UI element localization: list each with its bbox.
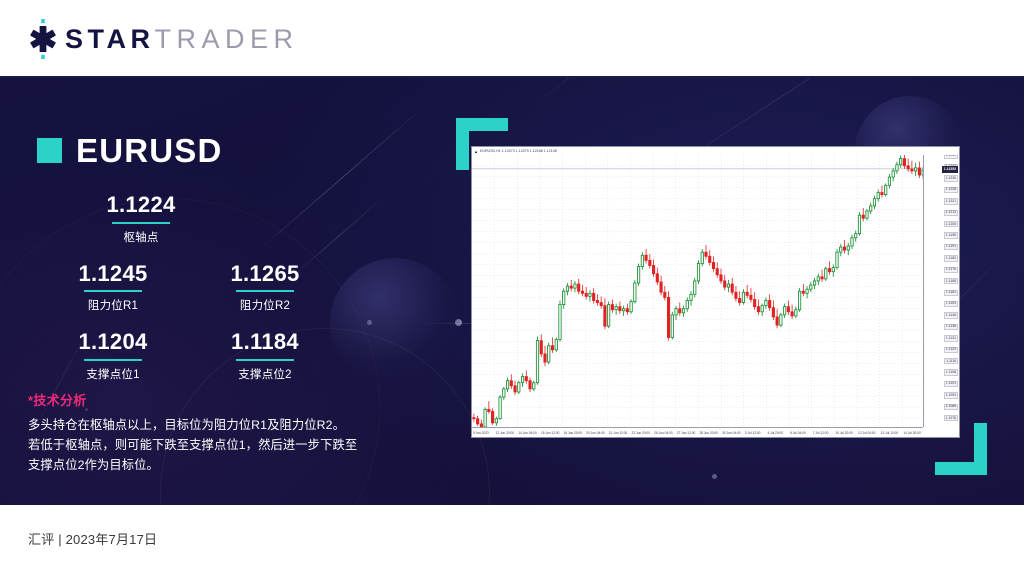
footer-bar: 汇评 | 2023年7月17日 bbox=[0, 505, 1024, 576]
time-tick: 9 Jun 2023 bbox=[473, 432, 489, 435]
level-underline bbox=[236, 359, 294, 361]
time-tick: 30 Jun 04:00 bbox=[722, 432, 740, 435]
instrument-header: EURUSD bbox=[37, 134, 223, 167]
time-tick: 14 Jun 04:00 bbox=[518, 432, 536, 435]
pivot-row-support: 1.1204 支撑点位1 1.1184 支撑点位2 bbox=[37, 330, 367, 399]
time-tick: 4 Jul 20:00 bbox=[767, 432, 783, 435]
level-underline bbox=[112, 222, 170, 224]
brand-name-light: TRADER bbox=[155, 26, 299, 53]
price-tick: 1.1071 bbox=[944, 427, 958, 428]
brand-name-bold: STAR bbox=[65, 26, 155, 53]
time-tick: 7 Jul 12:00 bbox=[813, 432, 829, 435]
chart-time-axis[interactable]: 9 Jun 202312 Jun 20:0014 Jun 04:0015 Jun… bbox=[472, 427, 923, 437]
price-tick: 1.1116 bbox=[944, 358, 958, 364]
asterisk-logo-icon bbox=[26, 19, 60, 59]
pivot-levels: 1.1224 枢轴点 1.1245 阻力位R1 1.1265 阻力位R2 bbox=[37, 193, 367, 399]
price-tick: 1.1086 bbox=[944, 404, 958, 410]
level-value: 1.1204 bbox=[37, 330, 189, 355]
level-label: 支撑点位1 bbox=[37, 366, 189, 382]
level-underline bbox=[84, 359, 142, 361]
level-support-2: 1.1184 支撑点位2 bbox=[189, 330, 341, 382]
price-chart[interactable]: ▲ EURUSD,H1 1.12073 1.12079 1.12188 1.12… bbox=[471, 146, 960, 438]
chart-title-text: EURUSD,H1 1.12073 1.12079 1.12188 1.1213… bbox=[480, 149, 557, 153]
price-tick: 1.1123 bbox=[944, 347, 958, 353]
instrument-symbol: EURUSD bbox=[76, 134, 223, 167]
footer-caption: 汇评 | 2023年7月17日 bbox=[28, 529, 157, 548]
level-label: 阻力位R2 bbox=[189, 297, 341, 313]
chart-plot-area[interactable] bbox=[472, 155, 923, 427]
level-underline bbox=[84, 290, 142, 292]
time-tick: 3 Jul 12:00 bbox=[745, 432, 761, 435]
price-tick: 1.1191 bbox=[944, 244, 958, 250]
level-label: 枢轴点 bbox=[65, 229, 217, 245]
instrument-marker-square bbox=[37, 138, 62, 163]
level-value: 1.1224 bbox=[65, 193, 217, 218]
time-tick: 12 Jul 04:00 bbox=[858, 432, 875, 435]
poster-root: STAR TRADER EURUSD bbox=[0, 0, 1024, 576]
time-tick: 6 Jul 04:00 bbox=[790, 432, 806, 435]
chart-title: ▲ EURUSD,H1 1.12073 1.12079 1.12188 1.12… bbox=[472, 147, 959, 155]
price-tick: 1.1101 bbox=[944, 381, 958, 387]
time-tick: 21 Jun 12:00 bbox=[609, 432, 627, 435]
current-price-tag: 1.12253 bbox=[942, 166, 958, 172]
time-tick: 28 Jun 20:00 bbox=[700, 432, 718, 435]
level-resistance-1: 1.1245 阻力位R1 bbox=[37, 262, 189, 314]
level-underline bbox=[236, 290, 294, 292]
header-bar: STAR TRADER bbox=[0, 0, 1024, 78]
price-tick: 1.1131 bbox=[944, 335, 958, 341]
time-tick: 22 Jun 20:00 bbox=[632, 432, 650, 435]
price-tick: 1.1153 bbox=[944, 301, 958, 307]
analysis-line: 多头持仓在枢轴点以上，目标位为阻力位R1及阻力位R2。 bbox=[28, 416, 428, 436]
level-label: 阻力位R1 bbox=[37, 297, 189, 313]
brand-logo[interactable]: STAR TRADER bbox=[26, 19, 299, 59]
main-canvas: EURUSD 1.1224 枢轴点 1.1245 阻力位R1 bbox=[0, 78, 1024, 505]
level-resistance-2: 1.1265 阻力位R2 bbox=[189, 262, 341, 314]
time-tick: 15 Jun 12:00 bbox=[541, 432, 559, 435]
analysis-line: 支撑点位2作为目标位。 bbox=[28, 456, 428, 476]
price-tick: 1.1236 bbox=[944, 175, 958, 181]
price-tick: 1.1161 bbox=[944, 290, 958, 296]
time-tick: 16 Jun 20:00 bbox=[564, 432, 582, 435]
decor-dot bbox=[712, 474, 717, 479]
level-value: 1.1184 bbox=[189, 330, 341, 355]
time-tick: 26 Jun 04:00 bbox=[654, 432, 672, 435]
price-tick: 1.1206 bbox=[944, 221, 958, 227]
level-value: 1.1265 bbox=[189, 262, 341, 287]
chart-title-marker: ▲ bbox=[474, 149, 478, 154]
price-tick: 1.1093 bbox=[944, 392, 958, 398]
price-tick: 1.1250 bbox=[944, 155, 958, 159]
price-tick: 1.1108 bbox=[944, 369, 958, 375]
candlestick-series bbox=[472, 155, 923, 427]
level-pivot: 1.1224 枢轴点 bbox=[65, 193, 217, 245]
info-panel: EURUSD 1.1224 枢轴点 1.1245 阻力位R1 bbox=[0, 78, 440, 505]
technical-analysis-title: *技术分析 bbox=[28, 390, 428, 409]
time-tick: 20 Jun 04:00 bbox=[586, 432, 604, 435]
price-tick: 1.1228 bbox=[944, 187, 958, 193]
time-tick: 27 Jun 12:00 bbox=[677, 432, 695, 435]
pivot-row-primary: 1.1224 枢轴点 bbox=[37, 193, 367, 262]
time-tick: 12 Jun 20:00 bbox=[496, 432, 514, 435]
analysis-line: 若低于枢轴点，则可能下跌至支撑点位1，然后进一步下跌至 bbox=[28, 436, 428, 456]
technical-analysis-body: 多头持仓在枢轴点以上，目标位为阻力位R1及阻力位R2。 若低于枢轴点，则可能下跌… bbox=[28, 416, 428, 476]
price-tick: 1.1168 bbox=[944, 278, 958, 284]
time-tick: 10 Jul 20:00 bbox=[835, 432, 852, 435]
level-label: 支撑点位2 bbox=[189, 366, 341, 382]
time-tick: 14 Jul 20:00 bbox=[903, 432, 920, 435]
pivot-row-resistance: 1.1245 阻力位R1 1.1265 阻力位R2 bbox=[37, 262, 367, 331]
chart-price-axis[interactable]: 1.12501.12431.12361.12281.12211.12131.12… bbox=[923, 155, 959, 427]
time-tick: 13 Jul 12:00 bbox=[881, 432, 898, 435]
level-value: 1.1245 bbox=[37, 262, 189, 287]
price-tick: 1.1198 bbox=[944, 232, 958, 238]
price-tick: 1.1213 bbox=[944, 210, 958, 216]
technical-analysis: *技术分析 多头持仓在枢轴点以上，目标位为阻力位R1及阻力位R2。 若低于枢轴点… bbox=[28, 390, 428, 476]
price-tick: 1.1146 bbox=[944, 312, 958, 318]
price-tick: 1.1221 bbox=[944, 198, 958, 204]
price-tick: 1.1183 bbox=[944, 255, 958, 261]
price-tick: 1.1078 bbox=[944, 415, 958, 421]
level-support-1: 1.1204 支撑点位1 bbox=[37, 330, 189, 382]
price-tick: 1.1138 bbox=[944, 324, 958, 330]
price-tick: 1.1176 bbox=[944, 267, 958, 273]
